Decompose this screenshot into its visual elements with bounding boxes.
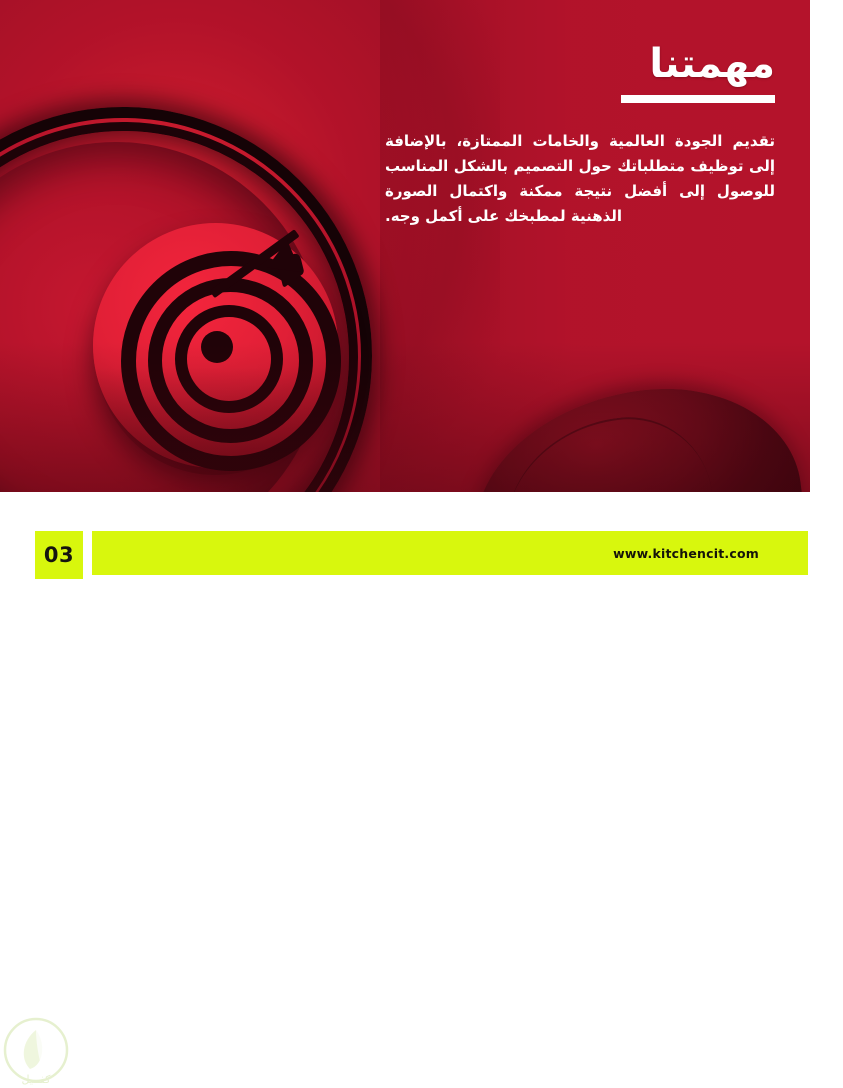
hero-photo-panel: مهمتنا تقديم الجودة العالمية والخامات ال… [0,0,810,492]
page-title: مهمتنا [385,44,775,84]
page-number: 03 [44,545,74,566]
title-underline-rule [621,95,775,103]
mission-body-text: تقديم الجودة العالمية والخامات الممتازة،… [385,129,775,229]
company-watermark-logo: كفــيل [0,1017,82,1088]
footer-accent-bar: www.kitchencit.com [92,531,808,575]
photo-bottom-shadow [0,342,810,492]
mission-text-block: مهمتنا تقديم الجودة العالمية والخامات ال… [385,44,775,229]
page-number-badge: 03 [35,531,83,579]
slide-root: مهمتنا تقديم الجودة العالمية والخامات ال… [0,0,843,596]
website-url[interactable]: www.kitchencit.com [613,546,759,561]
footer: كفــيل 03 www.kitchencit.com [0,492,843,596]
watermark-text: كفــيل [22,1073,52,1086]
